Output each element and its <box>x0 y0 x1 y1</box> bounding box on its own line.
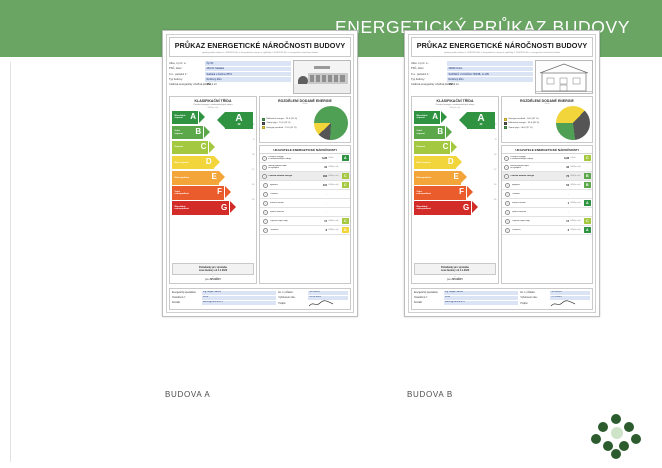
indicators-title: UKAZATELE ENERGETICKÉ NÁROČNOSTI <box>502 146 592 154</box>
field-label: K.ú., parcelní č.: <box>169 73 203 76</box>
indicator-unit: kWh/(m²·rok) <box>571 220 583 222</box>
indicator-label: Nucené větrání <box>512 202 566 205</box>
field-value[interactable]: 281 01 Sadská <box>205 67 291 71</box>
indicator-row: Úprava vlhkosti- <box>260 208 350 217</box>
logo-dot <box>611 414 621 424</box>
cooling-icon <box>263 192 268 197</box>
legend-label: Energie prostředí - 12,0 (12 %) <box>267 127 297 129</box>
band-label: Nehospodárná <box>417 177 432 179</box>
scale-band-E: NehospodárnáE196 <box>172 171 254 185</box>
energy-split-legend: Elektrická energie - 76,3 (76 %)Zemní pl… <box>262 118 312 130</box>
band-letter: E <box>211 171 216 185</box>
envelope-icon <box>262 165 267 170</box>
indicator-row: Primární energiez neobnovitelných zdrojů… <box>260 154 350 163</box>
scale-band-F: VelminehospodárnáF236 <box>414 186 496 200</box>
indicator-badge: C <box>584 155 591 161</box>
indicator-row: Primární energiez neobnovitelných zdrojů… <box>502 154 592 163</box>
logo-dot <box>611 449 621 459</box>
identification-row: K.ú., parcelní č.:Sadská u Kolína 7872 <box>169 72 291 76</box>
indicator-label: Vytápění <box>270 184 322 187</box>
legend-label: Elektrická energie - 76,3 (76 %) <box>267 118 298 120</box>
band-letter: F <box>217 186 222 200</box>
requirements-status: jsou SPLNĚNY <box>172 278 254 281</box>
indicator-badge: C <box>342 218 349 224</box>
footer-label: Ev. č. průkazu: <box>520 292 548 294</box>
band-letter: B <box>195 126 201 140</box>
indicators-panel: UKAZATELE ENERGETICKÉ NÁROČNOSTIPrimární… <box>259 145 351 283</box>
band-letter: G <box>221 201 227 215</box>
ventilation-icon <box>505 201 510 206</box>
indicator-row: Celková dodaná energie74kWh/(m²·rok)B <box>502 172 592 181</box>
band-letter: F <box>459 186 464 200</box>
energy-split-legend: Energie prostředí - 53,0 (37 %)Elektrick… <box>504 118 554 130</box>
footer-row: Podpis: <box>278 301 348 307</box>
footer-row: Osvědčení č.:1291 <box>172 296 276 300</box>
footer-label: Podpis: <box>520 303 548 305</box>
requirements-status-value: SPLNĚNY <box>452 279 463 281</box>
indicator-label: Úprava vlhkosti <box>270 211 325 214</box>
footer-label: Energetický specialista: <box>172 292 200 294</box>
ventilation-icon <box>263 201 268 206</box>
result-class-letter: A <box>235 114 242 123</box>
energy-split-unit: GJ/rok <box>504 103 590 105</box>
document-thumbnail <box>293 60 351 94</box>
requirements-line-2: nové budovy od 1.1.2022 <box>174 269 252 272</box>
indicator-label: Primární energiez neobnovitelných zdrojů <box>510 156 562 161</box>
classification-unit: kWh/(m²·rok) <box>172 107 254 109</box>
indicator-value: 101 <box>323 184 327 187</box>
area-label: Celková energeticky vztažná plocha: <box>169 83 203 86</box>
footer-label: Kontakt: <box>414 302 442 304</box>
indicator-unit: kWh/(m²·rok) <box>329 229 341 231</box>
document-subtitle: vydaný podle zákona č. 406/2000 Sb. o ho… <box>414 52 590 55</box>
indicator-badge: A <box>584 200 591 206</box>
identification-row: Typ budovy:Rodinný dům <box>169 77 291 81</box>
energy-split-pie-chart <box>314 106 348 140</box>
legend-item: Zemní plyn - 11,9 (12 %) <box>262 122 312 125</box>
band-letter: B <box>437 126 443 140</box>
requirements-line-2: nové budovy od 1.1.2022 <box>416 269 494 272</box>
footer-value[interactable]: santru@centrum.cz <box>444 301 518 305</box>
indicator-row: Příprava teplé vody17kWh/(m²·rok)C <box>260 217 350 226</box>
indicator-row: Vytápění101kWh/(m²·rok)C <box>260 181 350 190</box>
footer-label: Energetický specialista: <box>414 292 442 294</box>
field-label: Ulice, č.p./č. o.: <box>169 62 203 65</box>
identification-row: Typ budovy:Rodinný dům <box>411 77 533 81</box>
indicator-row: Chlazení- <box>260 190 350 199</box>
document-header: PRŮKAZ ENERGETICKÉ NÁROČNOSTI BUDOVYvyda… <box>411 37 593 57</box>
classification-unit: kWh/(m²·rok) <box>414 107 496 109</box>
indicator-badge: A <box>342 155 349 161</box>
document-header: PRŮKAZ ENERGETICKÉ NÁROČNOSTI BUDOVYvyda… <box>169 37 351 57</box>
legend-label: Energie prostředí - 53,0 (37 %) <box>509 118 539 120</box>
band-letter: D <box>206 156 212 170</box>
band-label: Méně úsporná <box>175 162 189 164</box>
indicator-label: Primární energiez neobnovitelných zdrojů <box>268 156 320 161</box>
indicator-value: 0,28 <box>322 157 327 160</box>
indicator-unit: kWh/(m²·rok) <box>329 175 341 177</box>
footer-label: Ev. č. průkazu: <box>278 292 306 294</box>
classification-panel: KLASIFIKAČNÍ TŘÍDAPrimární energie z neo… <box>411 96 499 283</box>
scale-band-E: NehospodárnáE196 <box>414 171 496 185</box>
envelope-icon <box>504 165 509 170</box>
indicator-badge: B <box>584 182 591 188</box>
result-class-arrow: A29 <box>225 112 253 129</box>
indicator-unit: kWh/(m²·rok) <box>329 220 341 222</box>
indicator-label: Příprava teplé vody <box>270 220 323 223</box>
band-label: Mimořádněúsporná <box>417 115 428 120</box>
document-thumbnail <box>535 60 593 94</box>
requirements-status-value: SPLNĚNY <box>210 279 221 281</box>
indicator-unit: kWh/(m²·rok) <box>571 229 583 231</box>
energy-split-unit: GJ/rok <box>262 103 348 105</box>
footer-label: Podpis: <box>278 303 306 305</box>
indicator-unit: kWh/(m²·rok) <box>571 184 583 186</box>
indicator-badge: B <box>584 173 591 179</box>
scale-band-G: MimořádněnehospodárnáG <box>172 201 254 215</box>
indicator-value: 17 <box>566 220 569 223</box>
heating-icon <box>263 183 268 188</box>
scale-band-F: VelminehospodárnáF236 <box>172 186 254 200</box>
indicator-badge <box>584 209 591 215</box>
footer-row: Podpis: <box>520 301 590 307</box>
document-subtitle: vydaný podle zákona č. 406/2000 Sb. o ho… <box>172 52 348 55</box>
identification-row: PSČ, obec:28401 Kolín <box>411 67 533 71</box>
result-class-arrow: A33 <box>467 112 495 129</box>
indicator-value: 3 <box>568 229 569 232</box>
footer-value[interactable]: Ing. Edgar Šantrů <box>202 291 276 295</box>
document-footer: Energetický specialista:Ing. Edgar Šantr… <box>169 288 351 310</box>
field-label: Ulice, č.p./č. o.: <box>411 62 445 65</box>
indicator-badge <box>342 164 349 170</box>
band-label: Úsporná <box>175 146 183 148</box>
identification-row: PSČ, obec:281 01 Sadská <box>169 67 291 71</box>
indicators-panel: UKAZATELE ENERGETICKÉ NÁROČNOSTIPrimární… <box>501 145 593 283</box>
legend-swatch <box>262 118 265 121</box>
footer-row: Energetický specialista:Ing. Edgar Šantr… <box>172 291 276 295</box>
footer-label: Osvědčení č.: <box>172 297 200 299</box>
primary-energy-icon <box>262 156 267 161</box>
energy-split-pie-chart <box>556 106 590 140</box>
indicator-badge <box>342 209 349 215</box>
indicator-value: 0,28 <box>564 157 569 160</box>
logo-dot <box>619 441 629 451</box>
indicator-row: Vytápění54kWh/(m²·rok)B <box>502 181 592 190</box>
band-label: Velmiúsporná <box>417 130 425 135</box>
indicator-value: 17 <box>324 220 327 223</box>
band-letter: E <box>453 171 458 185</box>
delivered-energy-icon <box>262 174 267 179</box>
legend-swatch <box>504 126 507 129</box>
legend-label: Elektrická energie - 52,0 (36 %) <box>509 122 540 124</box>
legend-swatch <box>504 118 507 121</box>
footer-row: Osvědčení č.:1291 <box>414 296 518 300</box>
indicator-row: Úprava vlhkosti- <box>502 208 592 217</box>
indicator-value: - <box>326 193 327 196</box>
indicator-label: Měrná potřeba teplana vytápění <box>268 165 323 170</box>
indicator-unit: GJ/rok <box>571 157 583 159</box>
indicator-value: 31 <box>324 166 327 169</box>
indicator-label: Osvětlení <box>270 229 324 232</box>
green-dots-logo <box>590 414 644 460</box>
indicators-title: UKAZATELE ENERGETICKÉ NÁROČNOSTI <box>260 146 350 154</box>
band-label: Mimořádněnehospodárná <box>417 206 431 211</box>
legend-item: Energie prostředí - 53,0 (37 %) <box>504 118 554 121</box>
field-value[interactable]: Rodinný dům <box>205 77 291 81</box>
footer-row: Kontakt:santru@centrum.cz <box>172 301 276 305</box>
area-row: Celková energeticky vztažná plocha:358,9… <box>411 83 533 87</box>
indicator-row: Osvětlení3kWh/(m²·rok)A <box>502 226 592 235</box>
indicator-row: Nucené větrání- <box>260 199 350 208</box>
band-letter: A <box>190 111 196 125</box>
indicator-unit: kWh/(m²·rok) <box>571 175 583 177</box>
indicator-row: Chlazení- <box>502 190 592 199</box>
humidity-icon <box>263 210 268 215</box>
footer-value[interactable]: 43 0199-0 <box>550 291 590 295</box>
result-class-value: 29 <box>238 123 241 126</box>
logo-core <box>611 427 623 439</box>
logo-dot <box>591 434 601 444</box>
indicator-label: Příprava teplé vody <box>512 220 565 223</box>
field-value[interactable]: SADSKÁ U KOLÍNA 748/48, st.135 <box>447 72 533 76</box>
document-title: PRŮKAZ ENERGETICKÉ NÁROČNOSTI BUDOVY <box>172 41 348 50</box>
legend-item: Elektrická energie - 76,3 (76 %) <box>262 118 312 121</box>
field-value[interactable] <box>447 61 533 65</box>
indicator-row: Měrná potřeba teplana vytápění34kWh/(m²·… <box>502 163 592 172</box>
result-class-value: 33 <box>480 123 483 126</box>
indicator-value: 102 <box>323 175 327 178</box>
indicator-value: 1 <box>568 202 569 205</box>
legend-swatch <box>504 122 507 125</box>
humidity-icon <box>505 210 510 215</box>
hot-water-icon <box>505 219 510 224</box>
identification-section: Ulice, č.p./č. o.:Čp.51PSČ, obec:281 01 … <box>169 60 351 94</box>
indicator-unit: kWh/(m²·rok) <box>329 166 341 168</box>
band-letter: A <box>432 111 438 125</box>
legend-item: Elektrická energie - 52,0 (36 %) <box>504 122 554 125</box>
indicator-row: Nucené větrání1kWh/(m²·rok)A <box>502 199 592 208</box>
identification-row: Ulice, č.p./č. o.:Čp.51 <box>169 61 291 65</box>
logo-dot <box>598 422 608 432</box>
field-value[interactable]: Sadská u Kolína 7872 <box>205 72 291 76</box>
indicator-label: Celková dodaná energie <box>510 175 565 178</box>
indicator-label: Osvětlení <box>512 229 566 232</box>
footer-label: Kontakt: <box>172 302 200 304</box>
indicator-value: - <box>568 211 569 214</box>
indicator-unit: GJ/rok <box>329 157 341 159</box>
footer-value[interactable]: Ing. Edgar Šantrů <box>444 291 518 295</box>
indicator-row: Příprava teplé vody17kWh/(m²·rok)C <box>502 217 592 226</box>
indicator-value: - <box>326 211 327 214</box>
indicator-row: Celková dodaná energie102kWh/(m²·rok)C <box>260 172 350 181</box>
identification-row: Ulice, č.p./č. o.: <box>411 61 533 65</box>
indicator-label: Nucené větrání <box>270 202 325 205</box>
band-label: Velmiúsporná <box>175 130 183 135</box>
heating-icon <box>505 183 510 188</box>
lighting-icon <box>505 228 510 233</box>
field-label: Typ budovy: <box>411 78 445 81</box>
indicator-badge: C <box>342 182 349 188</box>
requirements-box: Požadavky pro výstavbunové budovy od 1.1… <box>172 263 254 275</box>
indicator-badge: C <box>584 218 591 224</box>
indicator-label: Úprava vlhkosti <box>512 211 567 214</box>
legend-swatch <box>262 126 265 129</box>
footer-label: Vyhotoveno dne: <box>278 297 306 299</box>
area-value: 354,1 m² <box>205 83 291 87</box>
result-class-letter: A <box>477 114 484 123</box>
legend-swatch <box>262 122 265 125</box>
field-label: PSČ, obec: <box>169 67 203 70</box>
band-letter: G <box>463 201 469 215</box>
identification-section: Ulice, č.p./č. o.:PSČ, obec:28401 KolínK… <box>411 60 593 94</box>
logo-dot <box>631 434 641 444</box>
indicator-badge: D <box>342 227 349 233</box>
logo-dot <box>624 422 634 432</box>
indicator-badge: C <box>342 173 349 179</box>
scale-band-G: MimořádněnehospodárnáG <box>414 201 496 215</box>
energy-split-panel: ROZDĚLENÍ DODANÉ ENERGIEGJ/rokEnergie pr… <box>501 96 593 143</box>
indicator-label: Vytápění <box>512 184 565 187</box>
classification-title: KLASIFIKAČNÍ TŘÍDA <box>414 99 496 103</box>
field-label: K.ú., parcelní č.: <box>411 73 445 76</box>
field-label: Typ budovy: <box>169 78 203 81</box>
legend-label: Zemní plyn - 40,0 (27 %) <box>509 127 533 129</box>
requirements-status: jsou SPLNĚNY <box>414 278 496 281</box>
indicator-label: Chlazení <box>270 193 325 196</box>
band-letter: D <box>448 156 454 170</box>
primary-energy-icon <box>504 156 509 161</box>
band-label: Velminehospodárná <box>417 191 431 196</box>
field-label: PSČ, obec: <box>411 67 445 70</box>
footer-label: Vyhotoveno dne: <box>520 297 548 299</box>
footer-row: Kontakt:santru@centrum.cz <box>414 301 518 305</box>
area-row: Celková energeticky vztažná plocha:354,1… <box>169 83 291 87</box>
caption-budova-b: BUDOVA B <box>407 390 453 399</box>
band-label: Úsporná <box>417 146 425 148</box>
band-label: Mimořádněnehospodárná <box>175 206 189 211</box>
footer-value[interactable]: 43 0166-6 <box>308 291 348 295</box>
legend-item: Zemní plyn - 40,0 (27 %) <box>504 126 554 129</box>
footer-value[interactable]: 1291 <box>202 296 276 300</box>
indicator-row: Osvětlení8kWh/(m²·rok)D <box>260 226 350 235</box>
indicator-value: 8 <box>326 229 327 232</box>
band-label: Méně úsporná <box>417 162 431 164</box>
indicator-row: Měrná potřeba teplana vytápění31kWh/(m²·… <box>260 163 350 172</box>
identification-row: K.ú., parcelní č.:SADSKÁ U KOLÍNA 748/48… <box>411 72 533 76</box>
band-label: Nehospodárná <box>175 177 190 179</box>
indicator-value: - <box>326 202 327 205</box>
footer-row: Ev. č. průkazu:43 0166-6 <box>278 291 348 295</box>
indicator-unit: kWh/(m²·rok) <box>571 202 583 204</box>
indicator-value: 74 <box>566 175 569 178</box>
indicator-badge <box>342 200 349 206</box>
legend-label: Zemní plyn - 11,9 (12 %) <box>267 122 291 124</box>
indicator-badge <box>584 164 591 170</box>
classification-panel: KLASIFIKAČNÍ TŘÍDAPrimární energie z neo… <box>169 96 257 283</box>
field-value[interactable]: Rodinný dům <box>447 77 533 81</box>
indicator-unit: kWh/(m²·rok) <box>329 184 341 186</box>
legend-item: Energie prostředí - 12,0 (12 %) <box>262 126 312 129</box>
footer-value[interactable]: santru@centrum.cz <box>202 301 276 305</box>
indicator-badge <box>342 191 349 197</box>
scale-band-C: ÚspornáC118 <box>172 141 254 155</box>
slide-root: ENERGETICKÝ PRŮKAZ BUDOVY PRŮKAZ ENERGET… <box>0 0 662 468</box>
scale-band-D: Méně úspornáD157 <box>414 156 496 170</box>
scale-band-D: Méně úspornáD157 <box>172 156 254 170</box>
indicator-label: Celková dodaná energie <box>268 175 321 178</box>
classification-title: KLASIFIKAČNÍ TŘÍDA <box>172 99 254 103</box>
signature-image <box>550 301 590 307</box>
indicator-unit: kWh/(m²·rok) <box>571 166 583 168</box>
document-footer: Energetický specialista:Ing. Edgar Šantr… <box>411 288 593 310</box>
indicator-value: 34 <box>566 166 569 169</box>
field-value[interactable]: Čp.51 <box>205 61 291 65</box>
energy-split-panel: ROZDĚLENÍ DODANÉ ENERGIEGJ/rokElektrická… <box>259 96 351 143</box>
scale-band-C: ÚspornáC118 <box>414 141 496 155</box>
classification-scale: MimořádněúspornáA39VelmiúspornáB78Úsporn… <box>414 110 496 262</box>
delivered-energy-icon <box>504 174 509 179</box>
lighting-icon <box>263 228 268 233</box>
field-value[interactable]: 28401 Kolín <box>447 67 533 71</box>
band-label: Mimořádněúsporná <box>175 115 186 120</box>
indicator-badge: A <box>584 227 591 233</box>
band-letter: C <box>201 141 207 155</box>
requirements-box: Požadavky pro výstavbunové budovy od 1.1… <box>414 263 496 275</box>
band-label: Velminehospodárná <box>175 191 189 196</box>
band-letter: C <box>443 141 449 155</box>
area-label: Celková energeticky vztažná plocha: <box>411 83 445 86</box>
footer-label: Osvědčení č.: <box>414 297 442 299</box>
indicator-value: - <box>568 193 569 196</box>
energy-certificate-left: PRŮKAZ ENERGETICKÉ NÁROČNOSTI BUDOVYvyda… <box>162 30 358 317</box>
cooling-icon <box>505 192 510 197</box>
indicator-label: Chlazení <box>512 193 567 196</box>
footer-row: Ev. č. průkazu:43 0199-0 <box>520 291 590 295</box>
footer-value[interactable]: 1291 <box>444 296 518 300</box>
hot-water-icon <box>263 219 268 224</box>
energy-certificate-right: PRŮKAZ ENERGETICKÉ NÁROČNOSTI BUDOVYvyda… <box>404 30 600 317</box>
indicator-badge <box>584 191 591 197</box>
classification-scale: MimořádněúspornáA39VelmiúspornáB78Úsporn… <box>172 110 254 262</box>
indicator-label: Měrná potřeba teplana vytápění <box>510 165 565 170</box>
signature-image <box>308 301 348 307</box>
caption-budova-a: BUDOVA A <box>165 390 210 399</box>
indicator-value: 54 <box>566 184 569 187</box>
area-value: 358,9 m² <box>447 83 533 87</box>
document-title: PRŮKAZ ENERGETICKÉ NÁROČNOSTI BUDOVY <box>414 41 590 50</box>
footer-row: Energetický specialista:Ing. Edgar Šantr… <box>414 291 518 295</box>
